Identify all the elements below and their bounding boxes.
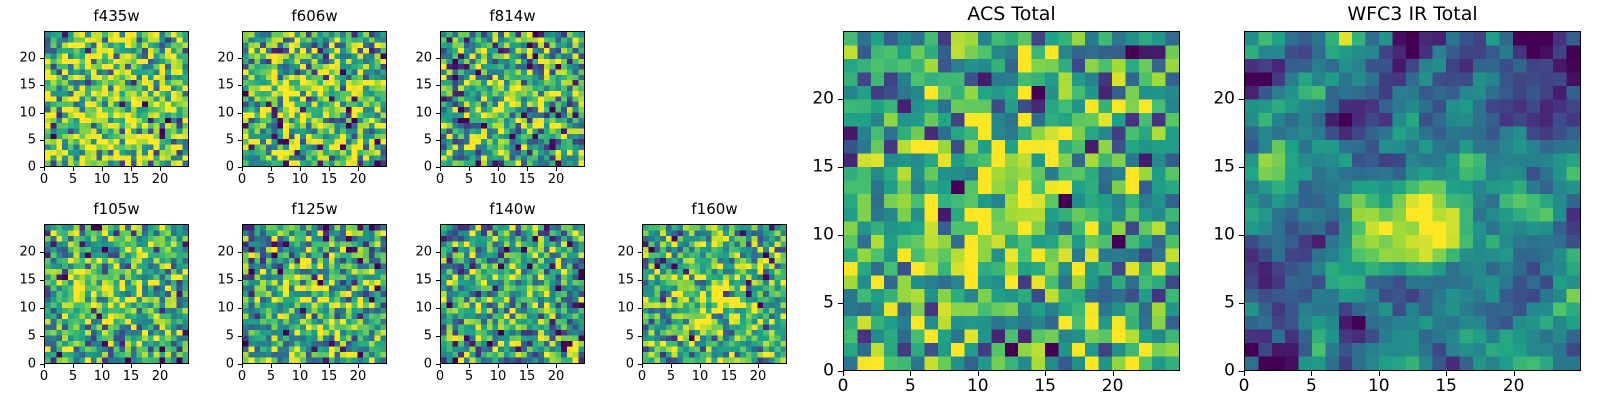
y-ticklabel-f105w-0: 0 [2,358,36,371]
y-tick-f606w-0 [238,167,242,168]
y-tick-f125w-15 [238,280,242,281]
x-tick-f435w-10 [102,167,103,171]
y-ticklabel-f140w-5: 5 [398,330,432,343]
x-ticklabel-wfc3-ir-total-15: 15 [1435,378,1457,395]
y-ticklabel-f140w-10: 10 [398,302,432,315]
x-ticklabel-f140w-15: 15 [519,370,536,383]
y-tick-f606w-15 [238,85,242,86]
panel-acs-total: ACS Total0510152005101520 [783,1,1188,401]
y-tick-wfc3-ir-total-10 [1239,235,1244,236]
heatmap-f606w [242,31,387,167]
y-ticklabel-f814w-10: 10 [398,106,432,119]
x-ticklabel-acs-total-10: 10 [967,378,989,395]
x-tick-f140w-5 [469,364,470,368]
y-tick-f160w-0 [638,364,642,365]
y-ticklabel-f105w-5: 5 [2,330,36,343]
y-tick-f606w-5 [238,140,242,141]
x-ticklabel-acs-total-0: 0 [838,378,849,395]
x-ticklabel-f814w-0: 0 [436,173,444,186]
y-ticklabel-f435w-5: 5 [2,133,36,146]
x-tick-f435w-20 [160,167,161,171]
heatmap-acs-total [843,31,1180,371]
y-tick-wfc3-ir-total-20 [1239,99,1244,100]
y-ticklabel-f105w-20: 20 [2,246,36,259]
x-tick-f606w-15 [329,167,330,171]
panel-f435w: f435w0510152005101520 [2,6,197,193]
y-ticklabel-f606w-15: 15 [200,79,234,92]
y-tick-f160w-5 [638,336,642,337]
x-ticklabel-acs-total-5: 5 [905,378,916,395]
x-ticklabel-f606w-20: 20 [350,173,367,186]
heatmap-image-f435w [45,32,188,166]
y-tick-f160w-20 [638,252,642,253]
heatmap-f140w [440,224,585,364]
x-ticklabel-f435w-10: 10 [94,173,111,186]
panel-wfc3-ir-total: WFC3 IR Total0510152005101520 [1184,1,1589,401]
x-ticklabel-f140w-10: 10 [490,370,507,383]
heatmap-f814w [440,31,585,167]
y-tick-f435w-5 [40,140,44,141]
x-tick-f435w-0 [44,167,45,171]
y-tick-f125w-0 [238,364,242,365]
x-ticklabel-f160w-15: 15 [721,370,738,383]
heatmap-image-f606w [243,32,386,166]
x-tick-f814w-15 [527,167,528,171]
y-tick-f606w-20 [238,58,242,59]
heatmap-image-acs-total [844,32,1179,370]
y-ticklabel-f140w-20: 20 [398,246,432,259]
y-ticklabel-f435w-20: 20 [2,52,36,65]
y-tick-f140w-10 [436,308,440,309]
y-tick-f105w-5 [40,336,44,337]
y-ticklabel-f606w-5: 5 [200,133,234,146]
x-tick-f435w-15 [131,167,132,171]
heatmap-f160w [642,224,787,364]
x-ticklabel-f606w-0: 0 [238,173,246,186]
x-tick-f105w-20 [160,364,161,368]
panel-title-f105w: f105w [44,202,189,217]
y-tick-f435w-20 [40,58,44,59]
y-tick-acs-total-5 [838,303,843,304]
x-tick-f140w-0 [440,364,441,368]
heatmap-f435w [44,31,189,167]
x-ticklabel-f125w-10: 10 [292,370,309,383]
x-ticklabel-acs-total-15: 15 [1034,378,1056,395]
x-tick-f606w-5 [271,167,272,171]
y-tick-acs-total-0 [838,371,843,372]
panel-f140w: f140w0510152005101520 [398,199,593,390]
y-tick-f105w-15 [40,280,44,281]
x-tick-f125w-20 [358,364,359,368]
x-tick-f125w-15 [329,364,330,368]
x-tick-f814w-10 [498,167,499,171]
x-tick-f125w-5 [271,364,272,368]
x-tick-f435w-5 [73,167,74,171]
x-ticklabel-f606w-5: 5 [267,173,275,186]
y-tick-acs-total-15 [838,167,843,168]
panel-f606w: f606w0510152005101520 [200,6,395,193]
x-tick-f606w-10 [300,167,301,171]
x-tick-f160w-20 [758,364,759,368]
x-ticklabel-f140w-20: 20 [548,370,565,383]
y-tick-f140w-0 [436,364,440,365]
x-tick-f160w-5 [671,364,672,368]
figure-canvas: f435w0510152005101520f606w05101520051015… [0,0,1600,400]
y-ticklabel-wfc3-ir-total-15: 15 [1184,159,1235,176]
y-ticklabel-acs-total-15: 15 [783,159,834,176]
y-ticklabel-f160w-5: 5 [600,330,634,343]
x-tick-f814w-20 [556,167,557,171]
x-tick-f814w-0 [440,167,441,171]
y-tick-f105w-20 [40,252,44,253]
heatmap-image-f125w [243,225,386,363]
x-tick-f140w-10 [498,364,499,368]
panel-f125w: f125w0510152005101520 [200,199,395,390]
x-ticklabel-f125w-20: 20 [350,370,367,383]
panel-title-f606w: f606w [242,9,387,24]
x-tick-f105w-0 [44,364,45,368]
x-ticklabel-f140w-0: 0 [436,370,444,383]
panel-title-f435w: f435w [44,9,189,24]
panel-title-f125w: f125w [242,202,387,217]
x-tick-f160w-15 [729,364,730,368]
y-ticklabel-acs-total-0: 0 [783,363,834,380]
y-ticklabel-f160w-20: 20 [600,246,634,259]
x-tick-f160w-10 [700,364,701,368]
panel-title-f140w: f140w [440,202,585,217]
y-tick-wfc3-ir-total-5 [1239,303,1244,304]
x-tick-f105w-5 [73,364,74,368]
y-ticklabel-f160w-10: 10 [600,302,634,315]
y-ticklabel-f125w-0: 0 [200,358,234,371]
x-ticklabel-acs-total-20: 20 [1102,378,1124,395]
x-ticklabel-f125w-5: 5 [267,370,275,383]
x-ticklabel-f435w-5: 5 [69,173,77,186]
panel-title-wfc3-ir-total: WFC3 IR Total [1244,5,1581,24]
y-tick-f140w-15 [436,280,440,281]
y-ticklabel-f814w-20: 20 [398,52,432,65]
x-ticklabel-f125w-15: 15 [321,370,338,383]
y-ticklabel-f435w-15: 15 [2,79,36,92]
x-tick-f125w-0 [242,364,243,368]
y-ticklabel-wfc3-ir-total-5: 5 [1184,295,1235,312]
y-tick-f105w-0 [40,364,44,365]
y-ticklabel-wfc3-ir-total-10: 10 [1184,227,1235,244]
x-ticklabel-f105w-15: 15 [123,370,140,383]
x-ticklabel-f105w-20: 20 [152,370,169,383]
heatmap-f125w [242,224,387,364]
y-ticklabel-f606w-0: 0 [200,161,234,174]
y-ticklabel-f125w-15: 15 [200,274,234,287]
panel-f105w: f105w0510152005101520 [2,199,197,390]
heatmap-image-f140w [441,225,584,363]
y-tick-f140w-5 [436,336,440,337]
x-tick-f125w-10 [300,364,301,368]
y-ticklabel-f606w-10: 10 [200,106,234,119]
x-ticklabel-f814w-5: 5 [465,173,473,186]
x-ticklabel-f435w-15: 15 [123,173,140,186]
x-ticklabel-f140w-5: 5 [465,370,473,383]
y-ticklabel-acs-total-10: 10 [783,227,834,244]
y-ticklabel-f105w-10: 10 [2,302,36,315]
y-tick-f814w-15 [436,85,440,86]
x-ticklabel-f160w-5: 5 [667,370,675,383]
y-ticklabel-f814w-15: 15 [398,79,432,92]
y-ticklabel-f814w-5: 5 [398,133,432,146]
x-ticklabel-wfc3-ir-total-0: 0 [1239,378,1250,395]
y-ticklabel-f606w-20: 20 [200,52,234,65]
heatmap-image-f105w [45,225,188,363]
x-ticklabel-wfc3-ir-total-10: 10 [1368,378,1390,395]
x-ticklabel-f160w-20: 20 [750,370,767,383]
y-tick-f814w-5 [436,140,440,141]
y-tick-f814w-10 [436,113,440,114]
y-ticklabel-f125w-5: 5 [200,330,234,343]
x-tick-f105w-15 [131,364,132,368]
y-tick-f160w-10 [638,308,642,309]
y-tick-wfc3-ir-total-15 [1239,167,1244,168]
x-ticklabel-f606w-15: 15 [321,173,338,186]
panel-f160w: f160w0510152005101520 [600,199,795,390]
x-ticklabel-f160w-0: 0 [638,370,646,383]
y-tick-f125w-20 [238,252,242,253]
x-ticklabel-f606w-10: 10 [292,173,309,186]
x-ticklabel-f105w-10: 10 [94,370,111,383]
heatmap-image-f814w [441,32,584,166]
y-ticklabel-f435w-0: 0 [2,161,36,174]
y-ticklabel-acs-total-5: 5 [783,295,834,312]
heatmap-wfc3-ir-total [1244,31,1581,371]
y-ticklabel-f125w-10: 10 [200,302,234,315]
panel-title-f160w: f160w [642,202,787,217]
y-ticklabel-f125w-20: 20 [200,246,234,259]
y-tick-acs-total-20 [838,99,843,100]
y-ticklabel-f435w-10: 10 [2,106,36,119]
y-ticklabel-wfc3-ir-total-0: 0 [1184,363,1235,380]
heatmap-image-f160w [643,225,786,363]
y-tick-wfc3-ir-total-0 [1239,371,1244,372]
x-tick-f606w-20 [358,167,359,171]
x-ticklabel-wfc3-ir-total-20: 20 [1503,378,1525,395]
x-tick-f140w-15 [527,364,528,368]
y-tick-f125w-10 [238,308,242,309]
x-ticklabel-wfc3-ir-total-5: 5 [1306,378,1317,395]
x-tick-f814w-5 [469,167,470,171]
y-ticklabel-f160w-15: 15 [600,274,634,287]
y-ticklabel-f814w-0: 0 [398,161,432,174]
y-ticklabel-acs-total-20: 20 [783,91,834,108]
y-ticklabel-f140w-0: 0 [398,358,432,371]
y-tick-f160w-15 [638,280,642,281]
x-tick-f105w-10 [102,364,103,368]
x-ticklabel-f814w-20: 20 [548,173,565,186]
y-tick-f435w-10 [40,113,44,114]
y-tick-f435w-15 [40,85,44,86]
x-tick-f606w-0 [242,167,243,171]
x-ticklabel-f105w-0: 0 [40,370,48,383]
y-tick-f105w-10 [40,308,44,309]
y-tick-f435w-0 [40,167,44,168]
x-ticklabel-f814w-10: 10 [490,173,507,186]
y-tick-f140w-20 [436,252,440,253]
y-tick-f814w-20 [436,58,440,59]
y-tick-f606w-10 [238,113,242,114]
panel-f814w: f814w0510152005101520 [398,6,593,193]
y-tick-f814w-0 [436,167,440,168]
y-ticklabel-f140w-15: 15 [398,274,432,287]
x-ticklabel-f105w-5: 5 [69,370,77,383]
heatmap-f105w [44,224,189,364]
x-ticklabel-f435w-0: 0 [40,173,48,186]
y-tick-acs-total-10 [838,235,843,236]
y-ticklabel-f105w-15: 15 [2,274,36,287]
x-tick-f140w-20 [556,364,557,368]
y-ticklabel-f160w-0: 0 [600,358,634,371]
x-tick-f160w-0 [642,364,643,368]
x-ticklabel-f160w-10: 10 [692,370,709,383]
y-tick-f125w-5 [238,336,242,337]
panel-title-f814w: f814w [440,9,585,24]
heatmap-image-wfc3-ir-total [1245,32,1580,370]
y-ticklabel-wfc3-ir-total-20: 20 [1184,91,1235,108]
panel-title-acs-total: ACS Total [843,5,1180,24]
x-ticklabel-f125w-0: 0 [238,370,246,383]
x-ticklabel-f814w-15: 15 [519,173,536,186]
x-ticklabel-f435w-20: 20 [152,173,169,186]
